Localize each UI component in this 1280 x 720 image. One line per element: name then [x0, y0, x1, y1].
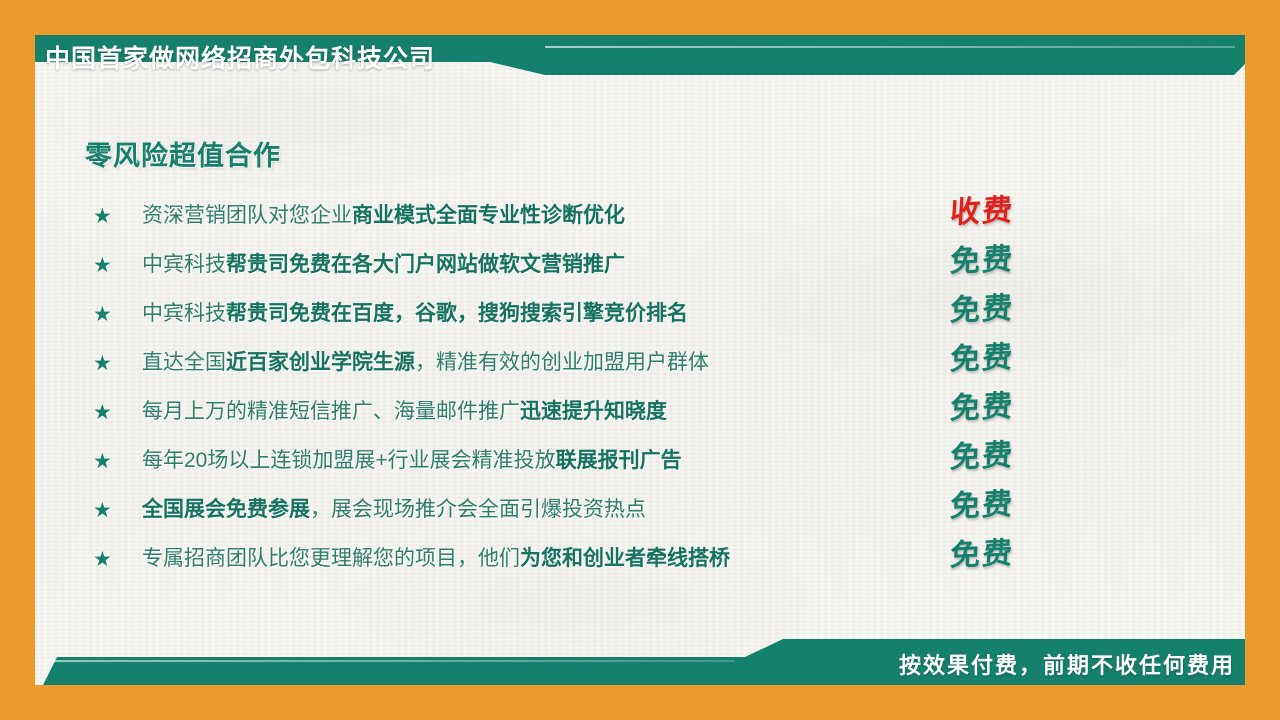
text-normal-tail: ，展会现场推介会全面引爆投资热点 [310, 498, 646, 521]
slide-root: 中国首家做网络招商外包科技公司 零风险超值合作 ★资深营销团队对您企业商业模式全… [0, 0, 1280, 720]
list-item-text: 直达全国近百家创业学院生源，精准有效的创业加盟用户群体 [142, 348, 709, 378]
star-bullet-icon: ★ [93, 255, 112, 276]
list-item: ★每年20场以上连锁加盟展+行业展会精准投放联展报刊广告 [85, 442, 985, 491]
benefit-list: ★资深营销团队对您企业商业模式全面专业性诊断优化★中宾科技帮贵司免费在各大门户网… [85, 197, 985, 589]
price-badge: 免费 [948, 432, 1071, 486]
list-item-text: 全国展会免费参展，展会现场推介会全面引爆投资热点 [142, 495, 646, 525]
text-normal-tail: ，精准有效的创业加盟用户群体 [415, 351, 709, 374]
header-hairline [545, 46, 1235, 48]
text-normal: 中宾科技 [142, 253, 226, 276]
price-badge: 免费 [948, 383, 1071, 437]
text-emphasis: 迅速提升知晓度 [520, 400, 667, 423]
text-emphasis: 帮贵司免费在各大门户网站做软文营销推广 [226, 253, 625, 276]
price-badge: 免费 [948, 236, 1071, 290]
list-item-text: 中宾科技帮贵司免费在百度，谷歌，搜狗搜索引擎竞价排名 [142, 299, 688, 329]
text-normal: 专属招商团队比您更理解您的项目，他们 [142, 547, 520, 570]
text-normal: 直达全国 [142, 351, 226, 374]
star-bullet-icon: ★ [93, 304, 112, 325]
list-item: ★全国展会免费参展，展会现场推介会全面引爆投资热点 [85, 491, 985, 540]
list-item-text: 资深营销团队对您企业商业模式全面专业性诊断优化 [142, 201, 625, 231]
text-emphasis: 商业模式全面专业性诊断优化 [352, 204, 625, 227]
text-normal: 每年20场以上连锁加盟展+行业展会精准投放 [142, 449, 556, 472]
price-badge: 免费 [948, 285, 1071, 339]
list-item: ★专属招商团队比您更理解您的项目，他们为您和创业者牵线搭桥 [85, 540, 985, 589]
list-item: ★每月上万的精准短信推广、海量邮件推广迅速提升知晓度 [85, 393, 985, 442]
footer-hairline [45, 660, 735, 662]
star-bullet-icon: ★ [93, 402, 112, 423]
list-item-text: 专属招商团队比您更理解您的项目，他们为您和创业者牵线搭桥 [142, 544, 730, 574]
list-item-text: 中宾科技帮贵司免费在各大门户网站做软文营销推广 [142, 250, 625, 280]
text-normal: 资深营销团队对您企业 [142, 204, 352, 227]
list-item: ★直达全国近百家创业学院生源，精准有效的创业加盟用户群体 [85, 344, 985, 393]
star-bullet-icon: ★ [93, 500, 112, 521]
text-emphasis: 近百家创业学院生源 [226, 351, 415, 374]
list-item-text: 每年20场以上连锁加盟展+行业展会精准投放联展报刊广告 [142, 446, 682, 476]
text-normal: 每月上万的精准短信推广、海量邮件推广 [142, 400, 520, 423]
list-item: ★中宾科技帮贵司免费在各大门户网站做软文营销推广 [85, 246, 985, 295]
section-title: 零风险超值合作 [85, 134, 281, 173]
header-title: 中国首家做网络招商外包科技公司 [45, 39, 435, 75]
star-bullet-icon: ★ [93, 206, 112, 227]
list-item-text: 每月上万的精准短信推广、海量邮件推广迅速提升知晓度 [142, 397, 667, 427]
price-badge: 免费 [948, 481, 1071, 535]
text-normal: 中宾科技 [142, 302, 226, 325]
star-bullet-icon: ★ [93, 353, 112, 374]
text-emphasis: 联展报刊广告 [556, 449, 682, 472]
star-bullet-icon: ★ [93, 549, 112, 570]
text-emphasis: 全国展会免费参展 [142, 498, 310, 521]
star-bullet-icon: ★ [93, 451, 112, 472]
text-emphasis: 为您和创业者牵线搭桥 [520, 547, 730, 570]
price-badge: 免费 [948, 530, 1071, 584]
list-item: ★中宾科技帮贵司免费在百度，谷歌，搜狗搜索引擎竞价排名 [85, 295, 985, 344]
footer-text: 按效果付费，前期不收任何费用 [899, 648, 1235, 680]
text-emphasis: 帮贵司免费在百度，谷歌，搜狗搜索引擎竞价排名 [226, 302, 688, 325]
price-badge: 免费 [948, 334, 1071, 388]
price-badge: 收费 [948, 187, 1071, 241]
price-column: 收费免费免费免费免费免费免费免费 [950, 190, 1070, 582]
list-item: ★资深营销团队对您企业商业模式全面专业性诊断优化 [85, 197, 985, 246]
